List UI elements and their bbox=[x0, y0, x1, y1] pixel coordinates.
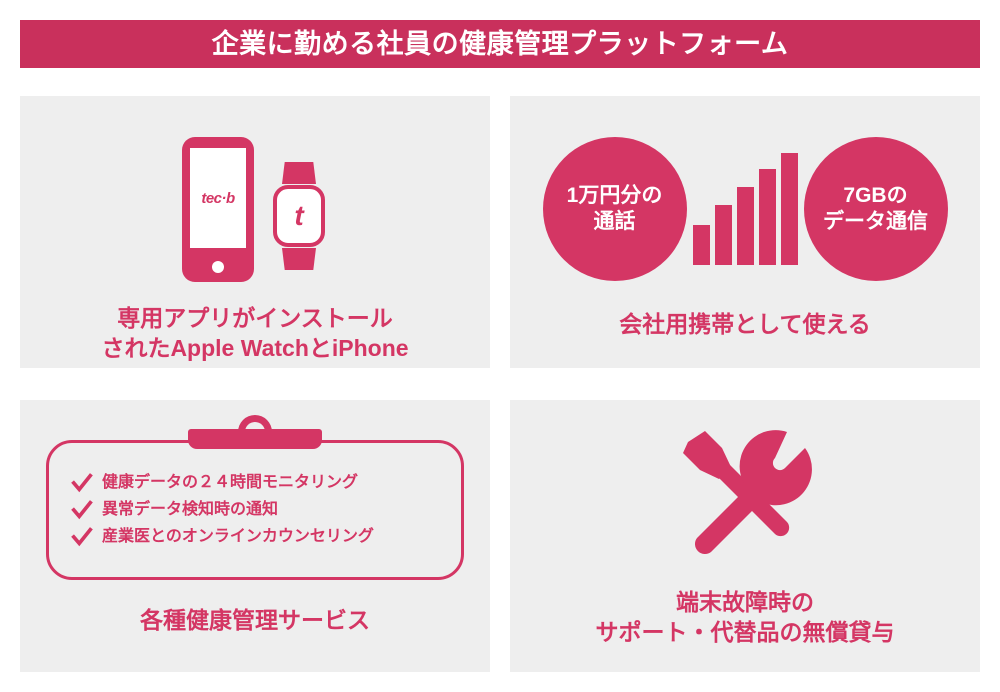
check-icon bbox=[71, 499, 93, 521]
check-icon bbox=[71, 472, 93, 494]
clipboard-board: 健康データの２４時間モニタリング 異常データ検知時の通知 産業医とのオンラインカ… bbox=[46, 440, 464, 580]
clipboard-clip-icon bbox=[188, 415, 322, 449]
card-mobile-plan: 1万円分の 通話 7GBの データ通信 会社用携帯として使える bbox=[510, 96, 980, 368]
watch-app-letter: t bbox=[294, 202, 303, 230]
card-health-services-caption-line1: 各種健康管理サービス bbox=[20, 606, 490, 636]
check-icon bbox=[71, 526, 93, 548]
signal-bar-2 bbox=[715, 205, 732, 265]
signal-strength-icon bbox=[693, 153, 798, 265]
mobile-plan-illustration: 1万円分の 通話 7GBの データ通信 bbox=[510, 126, 980, 292]
data-allowance-bubble: 7GBの データ通信 bbox=[804, 137, 948, 281]
call-allowance-bubble: 1万円分の 通話 bbox=[543, 137, 687, 281]
clipboard-clip-bar bbox=[188, 429, 322, 449]
card-mobile-plan-caption-line1: 会社用携帯として使える bbox=[510, 310, 980, 340]
signal-bar-5 bbox=[781, 153, 798, 265]
watch-band-top bbox=[282, 162, 316, 184]
watch-band-bottom bbox=[282, 248, 316, 270]
signal-bar-1 bbox=[693, 225, 710, 265]
checklist-item-label: 健康データの２４時間モニタリング bbox=[102, 473, 358, 492]
card-devices-caption-line2: されたApple WatchとiPhone bbox=[20, 334, 490, 364]
card-devices: tec·b t 専用アプリがインストール されたApple WatchとiPho… bbox=[20, 96, 490, 368]
card-health-services-caption: 各種健康管理サービス bbox=[20, 606, 490, 636]
card-mobile-plan-caption: 会社用携帯として使える bbox=[510, 310, 980, 340]
card-health-services: 健康データの２４時間モニタリング 異常データ検知時の通知 産業医とのオンラインカ… bbox=[20, 400, 490, 672]
checklist-item-label: 産業医とのオンラインカウンセリング bbox=[102, 527, 374, 546]
signal-bar-3 bbox=[737, 187, 754, 265]
data-allowance-line2: データ通信 bbox=[823, 209, 928, 235]
clipboard-illustration: 健康データの２４時間モニタリング 異常データ検知時の通知 産業医とのオンラインカ… bbox=[46, 416, 464, 580]
apple-watch-icon: t bbox=[270, 162, 328, 270]
card-support-caption-line1: 端末故障時の bbox=[510, 588, 980, 618]
call-allowance-line2: 通話 bbox=[594, 209, 636, 235]
header-banner: 企業に勤める社員の健康管理プラットフォーム bbox=[20, 20, 980, 68]
signal-bar-4 bbox=[759, 169, 776, 265]
card-support-caption: 端末故障時の サポート・代替品の無償貸与 bbox=[510, 588, 980, 648]
data-allowance-line1: 7GBの bbox=[843, 183, 907, 209]
phone-screen: tec·b bbox=[190, 148, 246, 248]
device-illustration: tec·b t bbox=[182, 122, 328, 282]
iphone-icon: tec·b bbox=[182, 137, 254, 282]
card-devices-caption: 専用アプリがインストール されたApple WatchとiPhone bbox=[20, 304, 490, 364]
watch-face: t bbox=[273, 185, 325, 247]
checklist-item: 産業医とのオンラインカウンセリング bbox=[71, 526, 447, 548]
page-title: 企業に勤める社員の健康管理プラットフォーム bbox=[212, 31, 789, 58]
phone-home-button bbox=[212, 261, 224, 273]
feature-card-grid: tec·b t 専用アプリがインストール されたApple WatchとiPho… bbox=[20, 96, 980, 672]
call-allowance-line1: 1万円分の bbox=[567, 183, 663, 209]
checklist-item: 異常データ検知時の通知 bbox=[71, 499, 447, 521]
app-logo-text: tec·b bbox=[201, 190, 234, 207]
card-devices-caption-line1: 専用アプリがインストール bbox=[20, 304, 490, 334]
tools-icon bbox=[675, 426, 815, 566]
checklist-item-label: 異常データ検知時の通知 bbox=[102, 500, 278, 519]
infographic-page: 企業に勤める社員の健康管理プラットフォーム tec·b t bbox=[0, 0, 1000, 692]
card-support-caption-line2: サポート・代替品の無償貸与 bbox=[510, 618, 980, 648]
card-support: 端末故障時の サポート・代替品の無償貸与 bbox=[510, 400, 980, 672]
checklist-item: 健康データの２４時間モニタリング bbox=[71, 472, 447, 494]
